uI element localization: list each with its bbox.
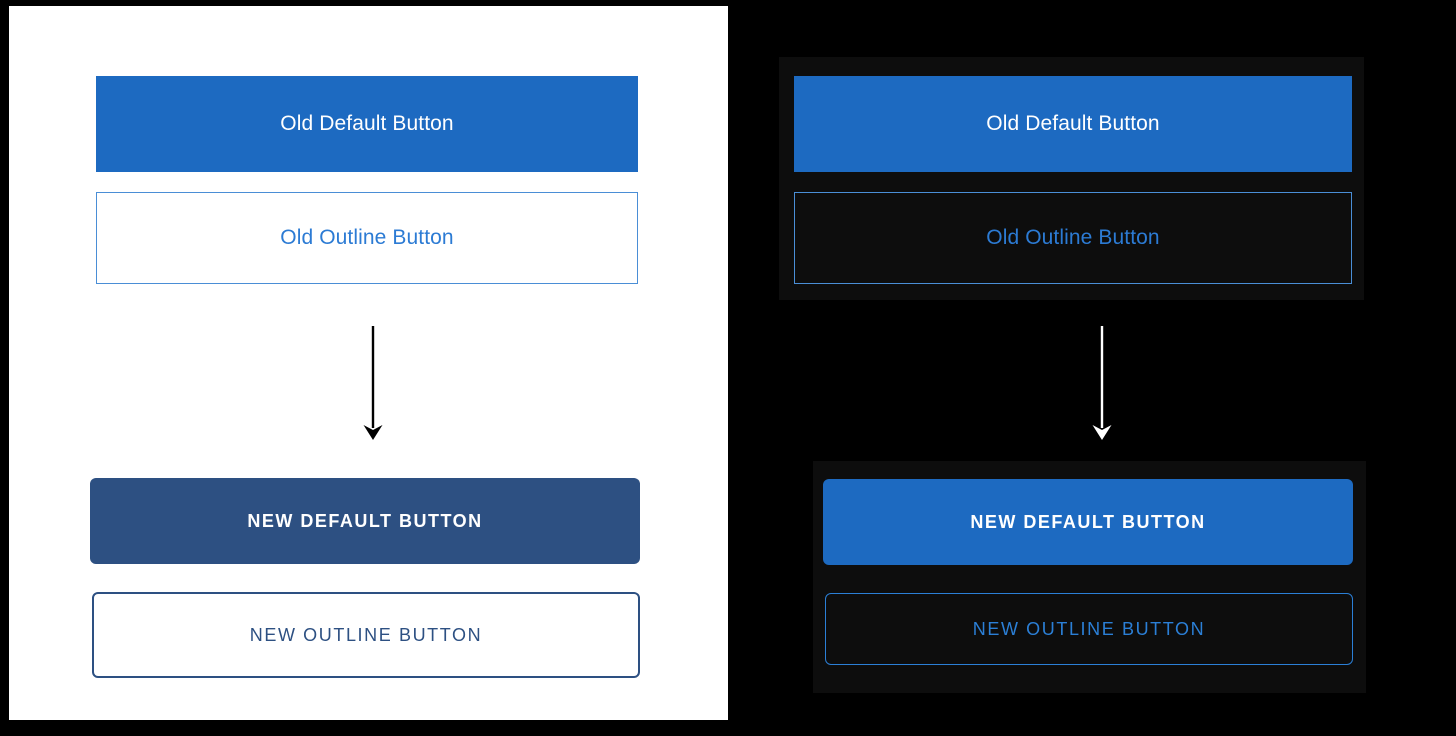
- dark-mode-panel: Old Default Button Old Outline Button NE…: [728, 6, 1447, 720]
- new-outline-button-dark[interactable]: NEW OUTLINE BUTTON: [825, 593, 1353, 665]
- downward-arrow-icon-light: [349, 324, 397, 449]
- frame-edge-right: [1447, 0, 1456, 736]
- screenshot-canvas: Old Default Button Old Outline Button NE…: [0, 0, 1456, 736]
- old-default-button-dark[interactable]: Old Default Button: [794, 76, 1352, 172]
- new-outline-button-light[interactable]: NEW OUTLINE BUTTON: [92, 592, 640, 678]
- new-default-button-dark[interactable]: NEW DEFAULT BUTTON: [823, 479, 1353, 565]
- frame-edge-left: [0, 0, 9, 736]
- light-mode-panel: Old Default Button Old Outline Button NE…: [9, 6, 728, 720]
- old-outline-button-light[interactable]: Old Outline Button: [96, 192, 638, 284]
- frame-edge-bottom: [0, 720, 1456, 736]
- old-outline-button-dark[interactable]: Old Outline Button: [794, 192, 1352, 284]
- downward-arrow-icon-dark: [1078, 324, 1126, 449]
- frame-edge-top: [0, 0, 1456, 6]
- new-default-button-light[interactable]: NEW DEFAULT BUTTON: [90, 478, 640, 564]
- old-default-button-light[interactable]: Old Default Button: [96, 76, 638, 172]
